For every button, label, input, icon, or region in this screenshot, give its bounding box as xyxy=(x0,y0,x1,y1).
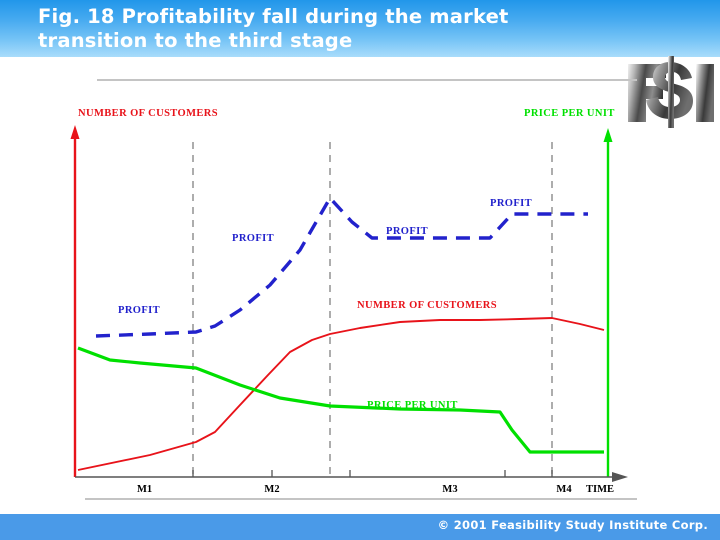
label-profit-3: PROFIT xyxy=(386,226,428,237)
copyright-text: © 2001 Feasibility Study Institute Corp. xyxy=(438,518,708,532)
label-price-top: PRICE PER UNIT xyxy=(524,108,615,119)
profitability-chart: NUMBER OF CUSTOMERS PRICE PER UNIT NUMBE… xyxy=(0,0,720,540)
xtick-m3: M3 xyxy=(442,484,457,495)
xtick-time: TIME xyxy=(586,484,614,495)
slide: Fig. 18 Profitability fall during the ma… xyxy=(0,0,720,540)
axis-price-arrow xyxy=(604,128,613,142)
axis-time-arrow xyxy=(612,472,628,482)
xtick-m4: M4 xyxy=(556,484,572,495)
label-customers-inline: NUMBER OF CUSTOMERS xyxy=(357,300,497,311)
axis-customers-arrow xyxy=(71,125,80,139)
series-price-per-unit xyxy=(78,348,604,452)
series-profit xyxy=(96,198,588,336)
label-profit-1: PROFIT xyxy=(118,305,160,316)
label-profit-2: PROFIT xyxy=(232,233,274,244)
xtick-m2: M2 xyxy=(264,484,279,495)
label-price-inline: PRICE PER UNIT xyxy=(367,400,458,411)
xtick-m1: M1 xyxy=(137,484,152,495)
label-customers-top: NUMBER OF CUSTOMERS xyxy=(78,108,218,119)
label-profit-4: PROFIT xyxy=(490,198,532,209)
